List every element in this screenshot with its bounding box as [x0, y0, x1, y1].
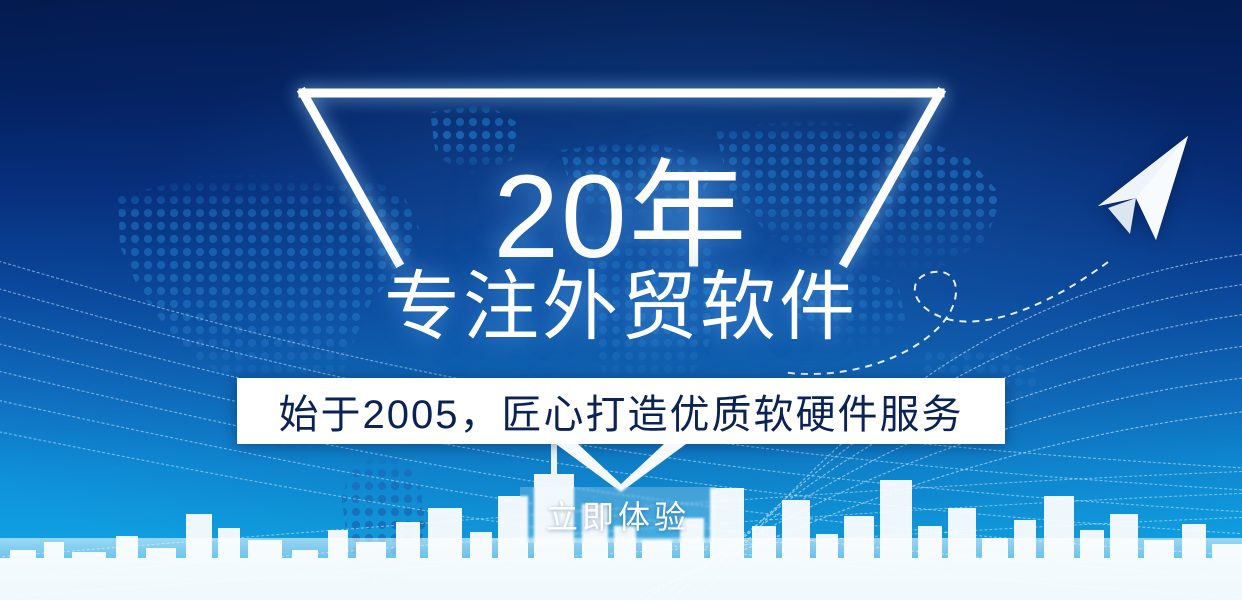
cta-try-now-button[interactable]: 立即体验 [520, 487, 716, 543]
tagline-text: 始于2005，匠心打造优质软硬件服务 [279, 382, 964, 440]
headline-year: 20年 [0, 158, 1242, 276]
chevron-down-icon [556, 444, 686, 492]
headline-subtitle: 专注外贸软件 [0, 270, 1242, 346]
banner-content: 20年 专注外贸软件 始于2005，匠心打造优质软硬件服务 立即体验 [0, 0, 1242, 600]
promo-banner: 20年 专注外贸软件 始于2005，匠心打造优质软硬件服务 立即体验 [0, 0, 1242, 600]
tagline-banner: 始于2005，匠心打造优质软硬件服务 [237, 378, 1005, 444]
cta-label: 立即体验 [546, 492, 690, 538]
